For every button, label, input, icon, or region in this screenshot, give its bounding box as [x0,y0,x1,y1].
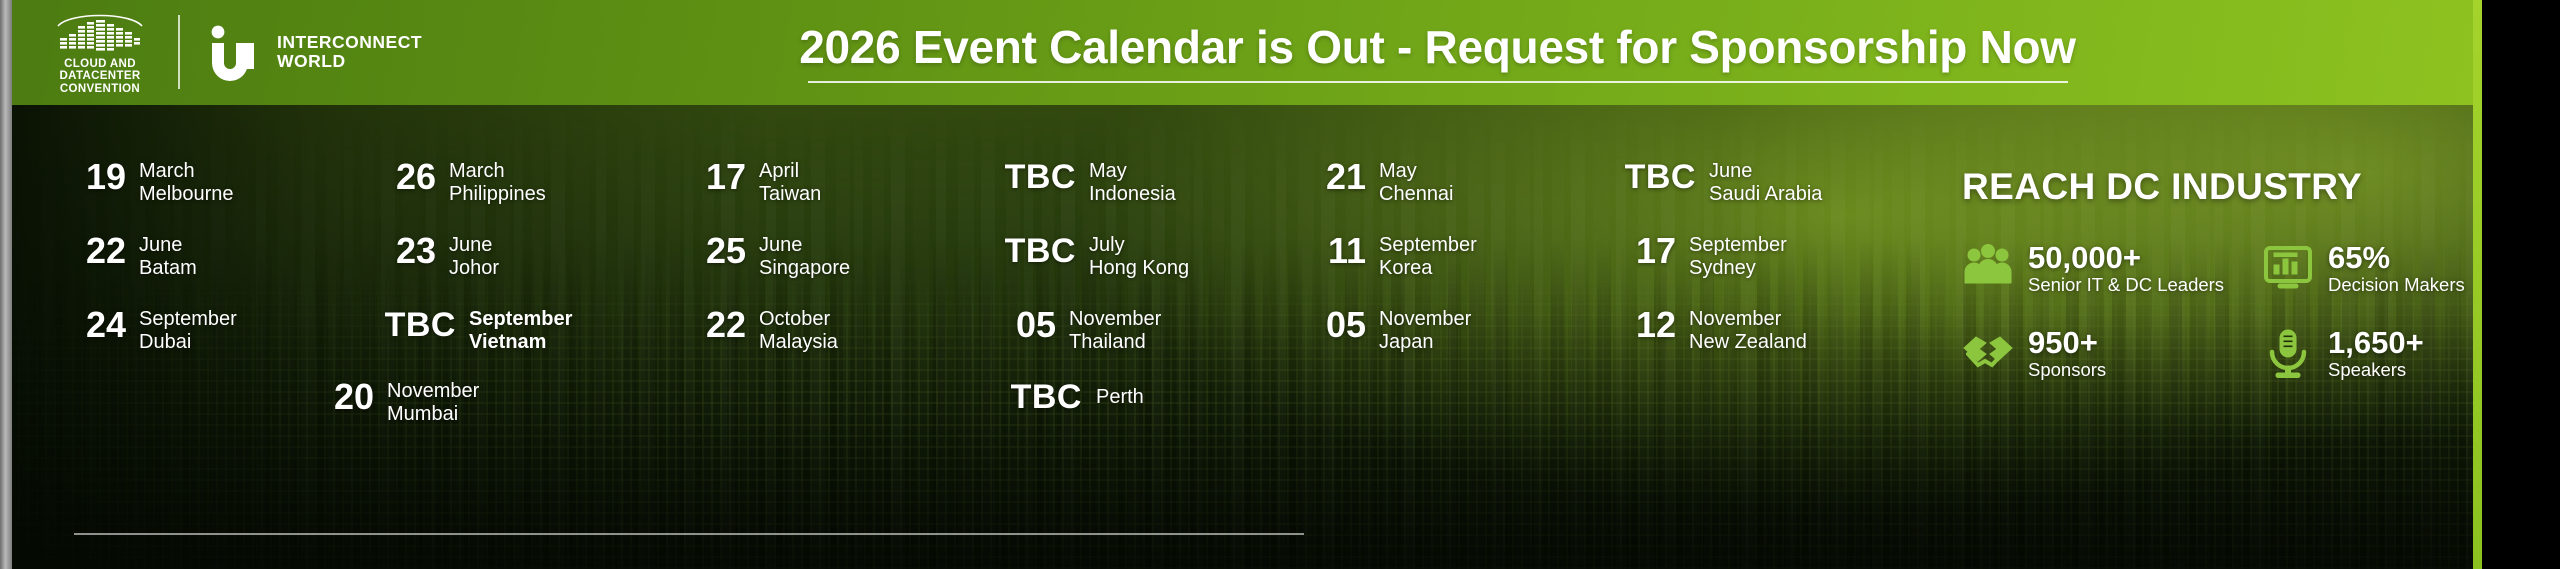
cdc-logo-wordmark: CLOUD AND DATACENTER CONVENTION [59,58,140,95]
event-city: Philippines [449,183,546,206]
event-month: October [759,308,838,331]
cloud-datacenter-convention-logo[interactable]: CLOUD AND DATACENTER CONVENTION [46,10,154,95]
event-city: Indonesia [1089,183,1176,206]
footer-rule [74,533,1304,535]
event-day: 22 [74,234,126,268]
stat-label: Speakers [2328,359,2424,381]
event-item[interactable]: 26MarchPhilippines [384,160,694,206]
event-month: March [139,160,234,183]
event-month: June [449,234,499,257]
event-city: Vietnam [469,331,572,354]
event-city: Johor [449,257,499,280]
interconnect-world-logo[interactable]: INTERCONNECT WORLD [206,23,422,81]
event-city: Mumbai [387,403,479,426]
event-extra-row: 20NovemberMumbaiTBCPerth [74,380,1934,426]
event-calendar-section: 19MarchMelbourne26MarchPhilippines17Apri… [12,105,1934,569]
event-city: Perth [1096,380,1144,414]
brand-lockup: CLOUD AND DATACENTER CONVENTION INTERCON… [12,10,422,95]
stat-number: 50,000+ [2028,241,2224,274]
event-day: 05 [1004,308,1056,342]
event-month: March [449,160,546,183]
brand-divider [178,15,180,89]
event-city: Chennai [1379,183,1454,206]
event-details: NovemberNew Zealand [1689,308,1807,354]
banner-body: 19MarchMelbourne26MarchPhilippines17Apri… [12,105,2473,569]
event-item[interactable]: 22JuneBatam [74,234,384,280]
stats-grid: 50,000+Senior IT & DC Leaders65%Decision… [1962,241,2542,381]
event-day: 19 [74,160,126,194]
stat-text: 50,000+Senior IT & DC Leaders [2028,241,2224,296]
event-details: NovemberThailand [1069,308,1161,354]
event-month: June [1709,160,1822,183]
event-day: 25 [694,234,746,268]
stat-number: 950+ [2028,326,2106,359]
event-city: Singapore [759,257,850,280]
stats-title: REACH DC INDUSTRY [1962,167,2542,207]
headline-underline [808,81,2068,83]
handshake-icon [1962,328,2014,380]
event-day: 23 [384,234,436,268]
event-city: Hong Kong [1089,257,1189,280]
stat-text: 950+Sponsors [2028,326,2106,381]
event-month: November [387,380,479,403]
event-details: JulyHong Kong [1089,234,1189,280]
event-details: MarchMelbourne [139,160,234,206]
event-day: 05 [1314,308,1366,342]
event-month: November [1069,308,1161,331]
event-item[interactable]: 21MayChennai [1314,160,1624,206]
event-item[interactable]: TBCMayIndonesia [1004,160,1314,206]
stat-item[interactable]: 950+Sponsors [1962,326,2262,381]
event-city: Thailand [1069,331,1161,354]
event-day: 17 [1624,234,1676,268]
event-month: July [1089,234,1189,257]
event-item[interactable]: 25JuneSingapore [694,234,1004,280]
event-city: Dubai [139,331,237,354]
event-month: November [1379,308,1471,331]
event-item[interactable]: 11SeptemberKorea [1314,234,1624,280]
event-details: JuneSaudi Arabia [1709,160,1822,206]
event-day: 24 [74,308,126,342]
event-item[interactable]: 05NovemberThailand [1004,308,1314,354]
event-details: SeptemberVietnam [469,308,572,354]
event-month: September [469,308,572,331]
event-month: May [1379,160,1454,183]
page-edge-accent-bar [2473,0,2482,569]
event-item[interactable]: 05NovemberJapan [1314,308,1624,354]
cdc-line-2: DATACENTER [59,70,140,82]
page-edge-right [2482,0,2560,569]
event-item[interactable]: 19MarchMelbourne [74,160,384,206]
event-item[interactable]: TBCPerth [1010,380,1144,426]
cdc-line-1: CLOUD AND [64,58,136,70]
event-details: SeptemberDubai [139,308,237,354]
banner-headline: 2026 Event Calendar is Out - Request for… [799,22,2076,72]
event-day: TBC [1624,160,1696,194]
event-day: 21 [1314,160,1366,194]
event-month: September [1379,234,1477,257]
event-item[interactable]: 23JuneJohor [384,234,694,280]
event-city: New Zealand [1689,331,1807,354]
event-month: September [1689,234,1787,257]
event-details: MayChennai [1379,160,1454,206]
event-grid: 19MarchMelbourne26MarchPhilippines17Apri… [74,160,1934,354]
stat-item[interactable]: 50,000+Senior IT & DC Leaders [1962,241,2262,296]
event-details: SeptemberKorea [1379,234,1477,280]
event-item[interactable]: 24SeptemberDubai [74,308,384,354]
event-details: JuneSingapore [759,234,850,280]
event-calendar-banner: CLOUD AND DATACENTER CONVENTION INTERCON… [0,0,2560,569]
event-month: September [139,308,237,331]
event-details: JuneBatam [139,234,197,280]
event-details: NovemberJapan [1379,308,1471,354]
event-city: Taiwan [759,183,821,206]
monitor-chart-icon [2262,243,2314,295]
event-month: April [759,160,821,183]
event-day: 11 [1314,234,1366,268]
event-day: 22 [694,308,746,342]
stat-number: 65% [2328,241,2465,274]
reach-stats-panel: REACH DC INDUSTRY 50,000+Senior IT & DC … [1934,105,2542,569]
microphone-icon [2262,328,2314,380]
event-month: June [759,234,850,257]
event-month: June [139,234,197,257]
iw-line-1: INTERCONNECT [277,32,422,52]
event-item[interactable]: 17AprilTaiwan [694,160,1004,206]
event-details: MayIndonesia [1089,160,1176,206]
event-day: 12 [1624,308,1676,342]
event-details: AprilTaiwan [759,160,821,206]
event-city: Japan [1379,331,1471,354]
event-details: NovemberMumbai [387,380,479,426]
event-day: TBC [1004,234,1076,268]
event-details: SeptemberSydney [1689,234,1787,280]
event-item[interactable]: 17SeptemberSydney [1624,234,1934,280]
event-city: Sydney [1689,257,1787,280]
iw-line-2: WORLD [277,51,346,71]
stat-label: Sponsors [2028,359,2106,381]
event-details: JuneJohor [449,234,499,280]
event-city: Melbourne [139,183,234,206]
event-month: May [1089,160,1176,183]
page-edge-left [0,0,12,569]
stat-number: 1,650+ [2328,326,2424,359]
event-item[interactable]: TBCJuneSaudi Arabia [1624,160,1934,206]
stat-text: 65%Decision Makers [2328,241,2465,296]
event-month: November [1689,308,1807,331]
event-day: TBC [1010,380,1082,414]
event-day: 17 [694,160,746,194]
cdc-line-3: CONVENTION [60,83,140,95]
event-item[interactable]: TBCSeptemberVietnam [384,308,694,354]
event-item[interactable]: TBCJulyHong Kong [1004,234,1314,280]
event-day: 26 [384,160,436,194]
people-group-icon [1962,243,2014,295]
datacenter-buildings-icon [52,10,148,54]
interconnect-world-wordmark: INTERCONNECT WORLD [277,33,422,72]
event-details: MarchPhilippines [449,160,546,206]
event-details: Perth [1096,380,1144,414]
event-details: OctoberMalaysia [759,308,838,354]
event-day: TBC [1004,160,1076,194]
event-city: Korea [1379,257,1477,280]
stat-label: Senior IT & DC Leaders [2028,274,2224,296]
event-day: TBC [384,308,456,342]
event-city: Malaysia [759,331,838,354]
event-city: Saudi Arabia [1709,183,1822,206]
event-item[interactable]: 22OctoberMalaysia [694,308,1004,354]
stat-label: Decision Makers [2328,274,2465,296]
event-item[interactable]: 20NovemberMumbai [322,380,1010,426]
event-day: 20 [322,380,374,414]
event-city: Batam [139,257,197,280]
headline-block: 2026 Event Calendar is Out - Request for… [422,22,2473,83]
banner-header: CLOUD AND DATACENTER CONVENTION INTERCON… [12,0,2473,105]
iu-monogram-icon [206,23,266,81]
event-item[interactable]: 12NovemberNew Zealand [1624,308,1934,354]
stat-text: 1,650+Speakers [2328,326,2424,381]
